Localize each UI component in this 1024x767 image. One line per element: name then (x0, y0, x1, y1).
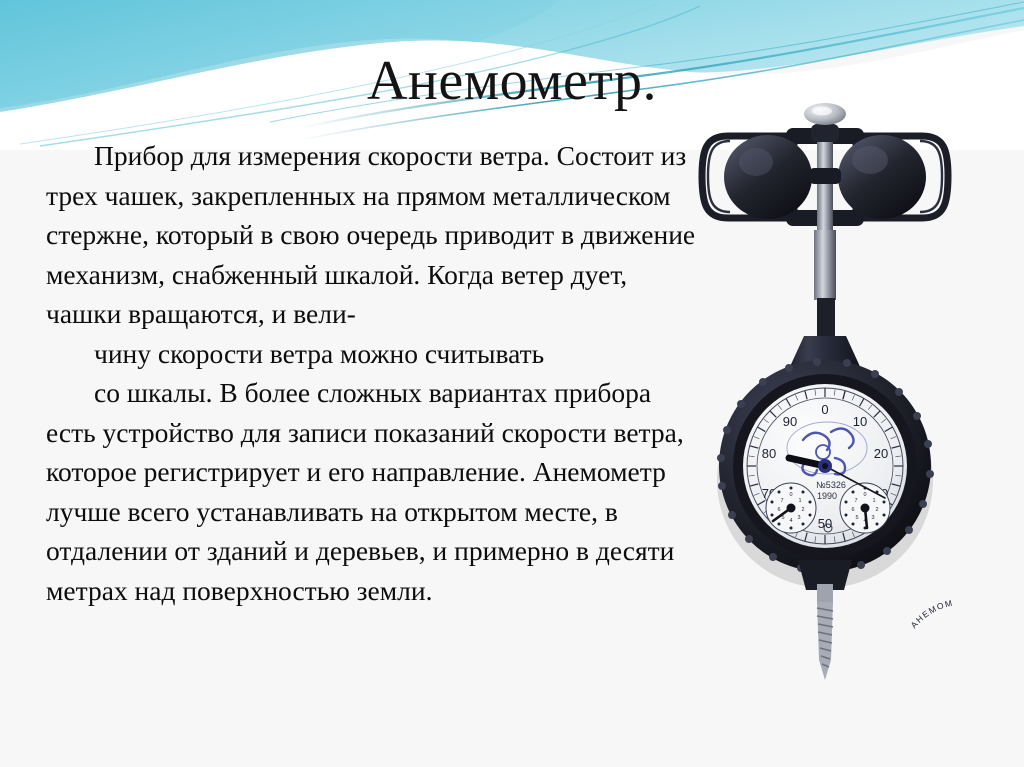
threaded-screw-mount (817, 602, 833, 680)
svg-text:5: 5 (855, 515, 858, 521)
page-title: Анемометр. (0, 52, 1024, 111)
spindle-collar (809, 168, 841, 184)
dial-numeral-80: 80 (762, 446, 776, 461)
paragraph-3: со шкалы. В более сложных вариантах приб… (46, 373, 706, 610)
dial-numeral-0: 0 (821, 402, 828, 417)
svg-text:6: 6 (851, 507, 854, 513)
cup-right (838, 135, 926, 219)
svg-text:1: 1 (798, 498, 801, 504)
mount-assembly (798, 560, 852, 680)
cup-right-highlight (852, 146, 888, 174)
dial-year: 1990 (817, 491, 837, 501)
svg-text:3: 3 (871, 515, 874, 521)
svg-text:4: 4 (789, 518, 792, 524)
svg-text:0: 0 (863, 492, 866, 498)
svg-text:7: 7 (854, 498, 857, 504)
subdial-right: 0 1 2 3 4 5 6 7 (840, 483, 890, 533)
svg-text:3: 3 (797, 515, 800, 521)
dial-numeral-90: 90 (783, 414, 797, 429)
dial-numeral-20: 20 (874, 446, 888, 461)
subdial-left: 0 1 2 3 4 5 6 7 (766, 483, 816, 533)
screw-neck (817, 584, 833, 604)
cup-left-highlight (739, 148, 773, 176)
cup-rotor-assembly (702, 103, 948, 232)
cup-left (724, 135, 812, 219)
body-text-block: Прибор для измерения скорости ветра. Сос… (46, 136, 706, 610)
svg-text:7: 7 (780, 498, 783, 504)
paragraph-1: Прибор для измерения скорости ветра. Сос… (46, 136, 706, 334)
dial-numeral-10: 10 (853, 414, 867, 429)
spindle-hub (811, 124, 839, 142)
upper-shaft (814, 230, 836, 300)
paragraph-2: чину скорости ветра можно считывать (46, 334, 706, 374)
svg-text:0: 0 (789, 492, 792, 498)
svg-text:2: 2 (801, 507, 804, 513)
slide-root: Анемометр. Прибор для измерения скорости… (0, 0, 1024, 767)
svg-text:1: 1 (872, 498, 875, 504)
dial-serial: №5326 (816, 480, 846, 490)
svg-text:6: 6 (777, 507, 780, 513)
svg-text:2: 2 (875, 507, 878, 513)
dial-numeral-50: 50 (818, 516, 832, 531)
anemometer-photo: 0 10 20 30 50 70 80 90 АНЕМОМЕТР ЧАШЕЧНЫ… (690, 84, 960, 694)
dial-head: 0 10 20 30 50 70 80 90 АНЕМОМЕТР ЧАШЕЧНЫ… (717, 358, 960, 634)
